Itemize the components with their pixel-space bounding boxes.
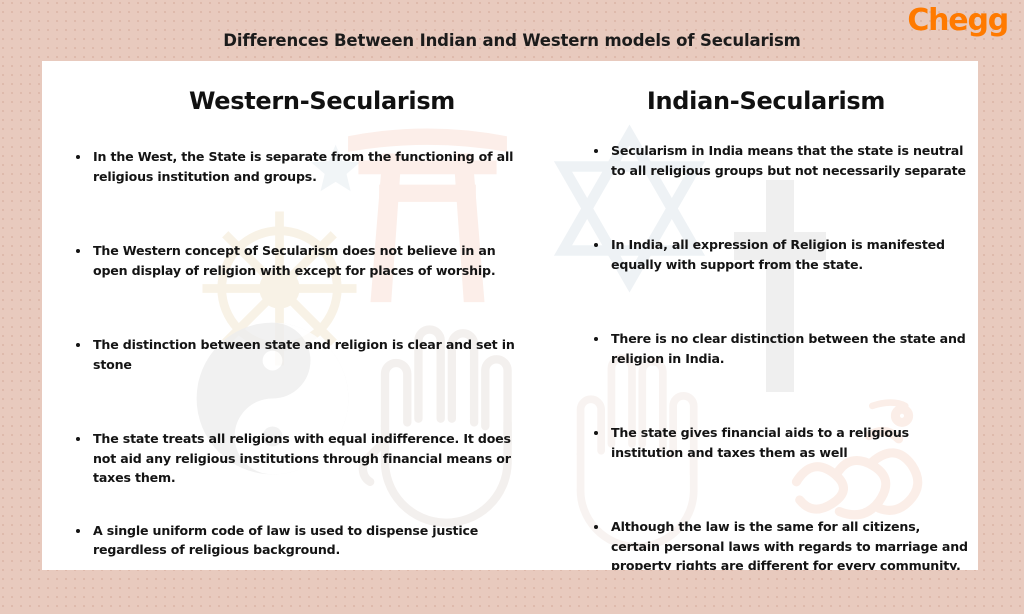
list-item: The state gives financial aids to a reli…: [588, 423, 968, 462]
list-item: There is no clear distinction between th…: [588, 329, 968, 368]
list-item: The distinction between state and religi…: [70, 335, 520, 374]
bullet-list-indian: Secularism in India means that the state…: [588, 141, 968, 570]
list-item: Although the law is the same for all cit…: [588, 517, 968, 570]
list-item: The Western concept of Secularism does n…: [70, 241, 520, 280]
bullet-list-western: In the West, the State is separate from …: [70, 147, 520, 560]
list-item: Secularism in India means that the state…: [588, 141, 968, 180]
column-heading-western: Western-Secularism: [122, 87, 522, 115]
column-heading-indian: Indian-Secularism: [566, 87, 966, 115]
list-item: In India, all expression of Religion is …: [588, 235, 968, 274]
list-item: A single uniform code of law is used to …: [70, 521, 520, 560]
page-title: Differences Between Indian and Western m…: [0, 31, 1024, 50]
content-card: Western-Secularism Indian-Secularism In …: [42, 61, 978, 570]
list-item: The state treats all religions with equa…: [70, 429, 520, 488]
list-item: In the West, the State is separate from …: [70, 147, 520, 186]
infographic-canvas: Chegg Differences Between Indian and Wes…: [0, 0, 1024, 614]
